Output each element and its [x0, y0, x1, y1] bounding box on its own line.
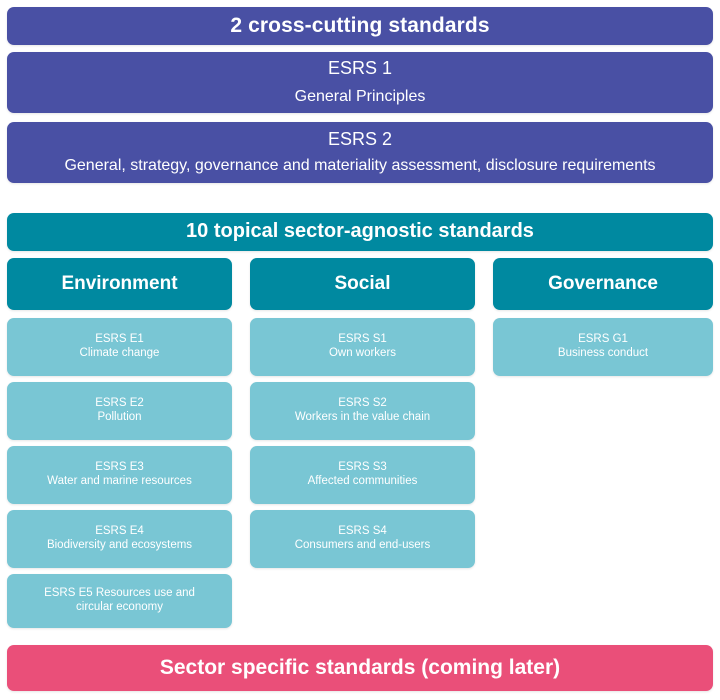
- topic-code-esrs-e5: ESRS E5 Resources use and: [44, 587, 195, 601]
- standard-code-esrs-1: ESRS 1: [328, 58, 392, 79]
- topic-description-esrs-s1: Own workers: [329, 347, 396, 361]
- topic-card-esrs-e1: ESRS E1 Climate change: [7, 318, 232, 376]
- topic-description-esrs-e5: circular economy: [76, 601, 163, 615]
- topic-card-esrs-e2: ESRS E2 Pollution: [7, 382, 232, 440]
- topic-description-esrs-e2: Pollution: [97, 411, 141, 425]
- topic-code-esrs-e1: ESRS E1: [95, 333, 144, 347]
- pillar-header-governance: Governance: [493, 258, 713, 310]
- standard-card-esrs-1: ESRS 1 General Principles: [7, 52, 713, 113]
- topic-code-esrs-e2: ESRS E2: [95, 397, 144, 411]
- topic-code-esrs-s2: ESRS S2: [338, 397, 387, 411]
- standard-code-esrs-2: ESRS 2: [328, 129, 392, 150]
- pillar-header-environment: Environment: [7, 258, 232, 310]
- topic-card-esrs-s4: ESRS S4 Consumers and end-users: [250, 510, 475, 568]
- topic-code-esrs-s1: ESRS S1: [338, 333, 387, 347]
- topic-code-esrs-e4: ESRS E4: [95, 525, 144, 539]
- topic-card-esrs-e3: ESRS E3 Water and marine resources: [7, 446, 232, 504]
- topic-code-esrs-s3: ESRS S3: [338, 461, 387, 475]
- topic-description-esrs-s3: Affected communities: [308, 475, 418, 489]
- sector-specific-banner: Sector specific standards (coming later): [7, 645, 713, 691]
- standard-description-esrs-1: General Principles: [295, 88, 426, 107]
- topic-description-esrs-e4: Biodiversity and ecosystems: [47, 539, 192, 553]
- topic-description-esrs-e1: Climate change: [80, 347, 160, 361]
- standard-card-esrs-2: ESRS 2 General, strategy, governance and…: [7, 122, 713, 183]
- topic-card-esrs-g1: ESRS G1 Business conduct: [493, 318, 713, 376]
- topic-description-esrs-e3: Water and marine resources: [47, 475, 192, 489]
- esrs-architecture-diagram: 2 cross-cutting standards ESRS 1 General…: [0, 0, 720, 700]
- topic-code-esrs-e3: ESRS E3: [95, 461, 144, 475]
- topic-card-esrs-e4: ESRS E4 Biodiversity and ecosystems: [7, 510, 232, 568]
- topical-banner: 10 topical sector-agnostic standards: [7, 213, 713, 251]
- topic-code-esrs-s4: ESRS S4: [338, 525, 387, 539]
- topic-description-esrs-g1: Business conduct: [558, 347, 648, 361]
- topic-code-esrs-g1: ESRS G1: [578, 333, 628, 347]
- topic-description-esrs-s4: Consumers and end-users: [295, 539, 431, 553]
- topic-card-esrs-s3: ESRS S3 Affected communities: [250, 446, 475, 504]
- pillar-header-social: Social: [250, 258, 475, 310]
- topic-card-esrs-s1: ESRS S1 Own workers: [250, 318, 475, 376]
- standard-description-esrs-2: General, strategy, governance and materi…: [64, 157, 655, 176]
- cross-cutting-banner: 2 cross-cutting standards: [7, 7, 713, 45]
- topic-card-esrs-s2: ESRS S2 Workers in the value chain: [250, 382, 475, 440]
- topic-card-esrs-e5: ESRS E5 Resources use and circular econo…: [7, 574, 232, 628]
- topic-description-esrs-s2: Workers in the value chain: [295, 411, 430, 425]
